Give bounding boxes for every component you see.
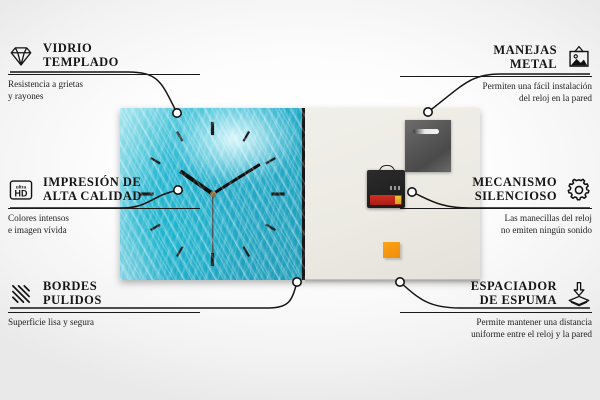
svg-text:HD: HD xyxy=(15,188,28,198)
clock-center-cap xyxy=(210,191,216,197)
feature-divider xyxy=(8,312,200,313)
foam-spacer-pad xyxy=(383,242,400,258)
feature-divider xyxy=(8,74,200,75)
feature-title: MANEJAS METAL xyxy=(493,44,557,71)
feature-divider xyxy=(400,76,592,77)
feature-divider xyxy=(400,312,592,313)
clock-second-hand xyxy=(212,194,213,256)
foam-spacer-icon xyxy=(566,281,592,307)
battery xyxy=(370,195,402,205)
feature-title: BORDES PULIDOS xyxy=(43,280,102,307)
feature-description: Resistencia a grietas y rayones xyxy=(8,79,200,102)
feature-title: MECANISMO SILENCIOSO xyxy=(472,176,557,203)
feature-manejas-metal: MANEJAS METAL Permiten una fácil instala… xyxy=(400,44,592,104)
feature-header: BORDES PULIDOS xyxy=(8,280,200,307)
clock-tick xyxy=(176,131,183,142)
feature-header: MECANISMO SILENCIOSO xyxy=(400,176,592,203)
feature-title: VIDRIO TEMPLADO xyxy=(43,42,119,69)
clock-minute-hand xyxy=(212,163,261,195)
feature-description: Permiten una fácil instalación del reloj… xyxy=(400,81,592,104)
hanger-slot xyxy=(413,129,439,134)
feature-title: IMPRESIÓN DE ALTA CALIDAD xyxy=(43,176,142,203)
clock-tick xyxy=(242,131,249,142)
gear-icon xyxy=(566,177,592,203)
feature-description: Permite mantener una distancia uniforme … xyxy=(400,317,592,340)
feature-header: ultra HD IMPRESIÓN DE ALTA CALIDAD xyxy=(8,176,200,203)
feature-vidrio-templado: VIDRIO TEMPLADO Resistencia a grietas y … xyxy=(8,42,200,102)
feature-espaciador-espuma: ESPACIADOR DE ESPUMA Permite mantener un… xyxy=(400,280,592,340)
feature-bordes-pulidos: BORDES PULIDOS Superficie lisa y segura xyxy=(8,280,200,329)
feature-divider xyxy=(8,208,200,209)
diagonal-stripes-icon xyxy=(8,281,34,307)
feature-divider xyxy=(400,208,592,209)
feature-header: VIDRIO TEMPLADO xyxy=(8,42,200,69)
clock-tick xyxy=(265,224,276,231)
clock-tick xyxy=(242,246,249,257)
mechanism-hook xyxy=(379,165,395,173)
metal-hanger-plate xyxy=(405,120,451,172)
clock-tick xyxy=(265,157,276,164)
feature-description: Las manecillas del reloj no emiten ningú… xyxy=(400,213,592,236)
feature-impresion-alta-calidad: ultra HD IMPRESIÓN DE ALTA CALIDAD Color… xyxy=(8,176,200,236)
product-infographic: VIDRIO TEMPLADO Resistencia a grietas y … xyxy=(0,0,600,400)
picture-frame-icon xyxy=(566,45,592,71)
clock-tick xyxy=(150,157,161,164)
ultra-hd-icon: ultra HD xyxy=(8,177,34,203)
feature-header: ESPACIADOR DE ESPUMA xyxy=(400,280,592,307)
feature-description: Colores intensos e imagen vívida xyxy=(8,213,200,236)
feature-description: Superficie lisa y segura xyxy=(8,317,200,328)
feature-mecanismo-silencioso: MECANISMO SILENCIOSO Las manecillas del … xyxy=(400,176,592,236)
clock-tick xyxy=(272,193,285,196)
feature-title: ESPACIADOR DE ESPUMA xyxy=(471,280,557,307)
feature-header: MANEJAS METAL xyxy=(400,44,592,71)
diamond-icon xyxy=(8,43,34,69)
clock-tick xyxy=(211,122,214,135)
clock-tick xyxy=(176,246,183,257)
